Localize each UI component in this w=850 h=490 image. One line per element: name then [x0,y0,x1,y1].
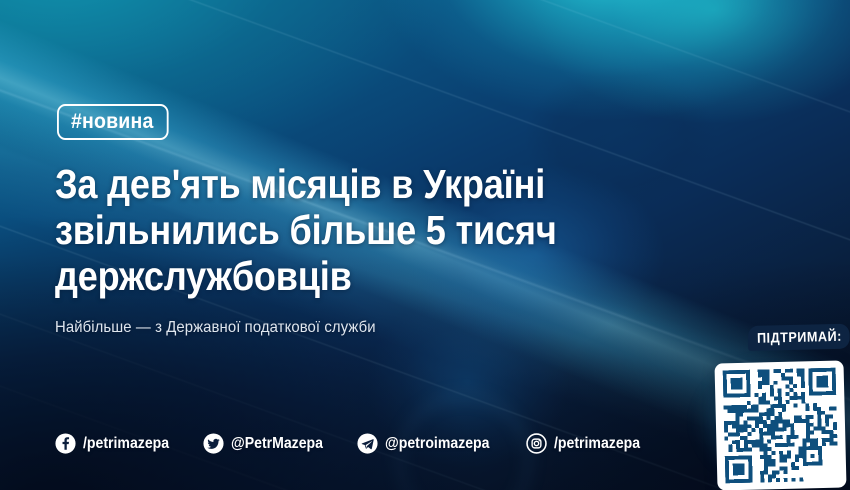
instagram-icon [526,433,547,454]
telegram-handle: @petroimazepa [385,435,490,453]
facebook-icon [55,433,76,454]
qr-code-image [723,368,839,484]
news-card: #новина За дев'ять місяців в Україні зві… [0,0,850,490]
support-qr-block[interactable]: ПІДТРИМАЙ: [700,326,850,490]
qr-code-card[interactable] [714,360,846,490]
subtitle-text: Найбільше — з Державної податкової служб… [55,318,376,338]
category-tag-badge[interactable]: #новина [57,104,168,140]
telegram-icon [357,433,378,454]
support-label: ПІДТРИМАЙ: [748,324,850,351]
social-link-instagram[interactable]: /petrimazepa [526,433,652,454]
social-link-telegram[interactable]: @petroimazepa [357,433,504,454]
instagram-handle: /petrimazepa [554,435,640,453]
facebook-handle: /petrimazepa [83,435,169,453]
twitter-handle: @PetrMazepa [231,435,323,453]
social-link-twitter[interactable]: @PetrMazepa [203,433,336,454]
card-content: #новина За дев'ять місяців в Україні зві… [0,0,850,490]
twitter-icon [203,433,224,454]
social-links-row: /petrimazepa @PetrMazepa @petroimazepa [55,433,652,454]
social-link-facebook[interactable]: /petrimazepa [55,433,181,454]
headline-text: За дев'ять місяців в Україні звільнились… [55,161,653,299]
